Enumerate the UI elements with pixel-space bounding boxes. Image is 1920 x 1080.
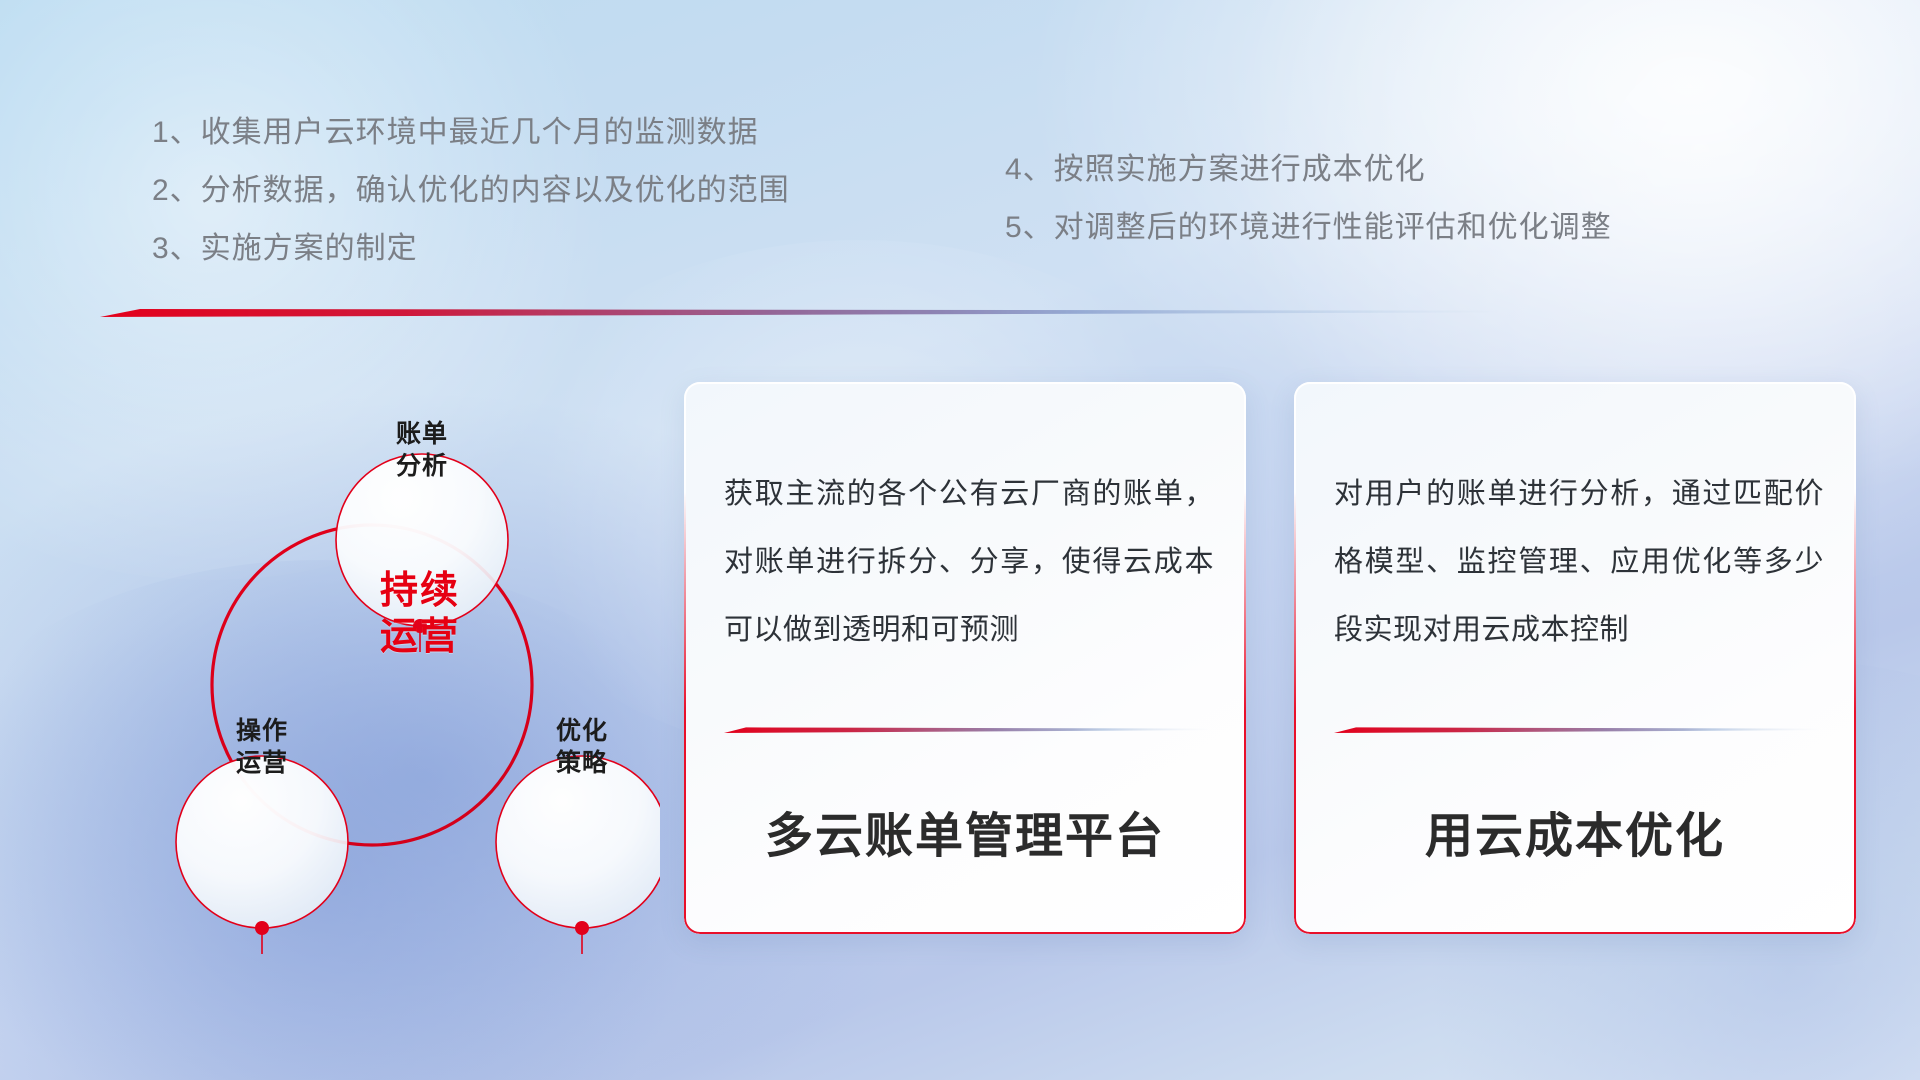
diagram-node-label-billing-analysis: 账单 分析 <box>337 418 507 482</box>
step-item-5: 5、对调整后的环境进行性能评估和优化调整 <box>1005 213 1612 243</box>
step-item-1: 1、收集用户云环境中最近几个月的监测数据 <box>152 118 790 148</box>
card-body-text: 对用户的账单进行分析，通过匹配价格模型、监控管理、应用优化等多少段实现对用云成本… <box>1334 460 1824 664</box>
card-accent-rule <box>1334 726 1820 734</box>
step-item-4: 4、按照实施方案进行成本优化 <box>1005 155 1612 185</box>
bubble-optimization-strategy <box>496 756 660 928</box>
bubble-operations <box>176 756 348 928</box>
step-item-3: 3、实施方案的制定 <box>152 234 790 264</box>
card-title: 用云成本优化 <box>1294 796 1856 866</box>
feature-card-cloud-cost-optimization[interactable]: 对用户的账单进行分析，通过匹配价格模型、监控管理、应用优化等多少段实现对用云成本… <box>1294 382 1856 934</box>
steps-list-left: 1、收集用户云环境中最近几个月的监测数据 2、分析数据，确认优化的内容以及优化的… <box>152 118 790 264</box>
card-body-text: 获取主流的各个公有云厂商的账单，对账单进行拆分、分享，使得云成本可以做到透明和可… <box>724 460 1214 664</box>
diagram-node-label-optimization-strategy: 优化 策略 <box>497 715 667 779</box>
step-item-2: 2、分析数据，确认优化的内容以及优化的范围 <box>152 176 790 206</box>
diagram-center-label: 持续 运营 <box>315 568 525 661</box>
diagram-node-label-operations: 操作 运营 <box>177 715 347 779</box>
card-title: 多云账单管理平台 <box>684 796 1246 866</box>
slide-canvas: 1、收集用户云环境中最近几个月的监测数据 2、分析数据，确认优化的内容以及优化的… <box>0 0 1920 1080</box>
feature-card-multi-cloud-bill-platform[interactable]: 获取主流的各个公有云厂商的账单，对账单进行拆分、分享，使得云成本可以做到透明和可… <box>684 382 1246 934</box>
steps-list-right: 4、按照实施方案进行成本优化 5、对调整后的环境进行性能评估和优化调整 <box>1005 155 1612 243</box>
section-divider <box>100 305 1500 319</box>
card-accent-rule <box>724 726 1210 734</box>
continuous-operations-diagram: 账单 分析 操作 运营 优化 策略 持续 运营 <box>90 340 660 960</box>
